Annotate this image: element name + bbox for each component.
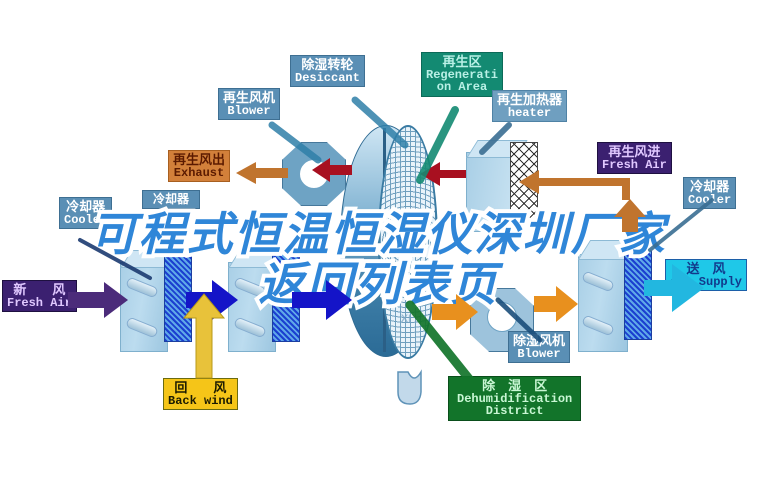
rotor-watermark-label: XI bbox=[401, 313, 411, 325]
label-back-wind[interactable]: 回 风 Back wind bbox=[163, 378, 238, 410]
label-regeneration-fresh-air[interactable]: 再生风进 Fresh Air bbox=[597, 142, 672, 174]
label-regeneration-blower-cn: 再生风机 bbox=[223, 91, 275, 105]
label-regeneration-blower[interactable]: 再生风机 Blower bbox=[218, 88, 280, 120]
label-regeneration-heater-cn: 再生加热器 bbox=[497, 93, 562, 107]
label-back-wind-cn: 回 风 bbox=[168, 381, 233, 395]
label-desiccant-rotor-en: Desiccant bbox=[295, 72, 360, 85]
label-back-wind-en: Back wind bbox=[168, 395, 233, 408]
regeneration-blower-inlet bbox=[299, 159, 329, 189]
label-regeneration-area-cn: 再生区 bbox=[426, 55, 498, 69]
label-exhaust-en: Exhaust bbox=[173, 167, 225, 180]
label-regeneration-blower-en: Blower bbox=[223, 105, 275, 118]
label-dehumidification-district-cn: 除 湿 区 bbox=[457, 379, 572, 393]
rotor-watermark-text: XI bbox=[378, 313, 434, 325]
label-cooler-right-cn: 冷却器 bbox=[688, 180, 731, 194]
label-exhaust[interactable]: 再生风出 Exhaust bbox=[168, 150, 230, 182]
label-desiccant-rotor-cn: 除湿转轮 bbox=[295, 58, 360, 72]
label-dehumidification-district-en2: District bbox=[457, 405, 572, 418]
label-dehumidification-district[interactable]: 除 湿 区 Dehumidification District bbox=[448, 376, 581, 421]
label-regeneration-fresh-air-en: Fresh Air bbox=[602, 159, 667, 172]
overlay-title-line2-text: 返回列表页 bbox=[259, 257, 499, 311]
regeneration-blower bbox=[282, 142, 344, 204]
dehumidifier-process-diagram: 除湿转轮 Desiccant 再生风机 Blower 再生区 Regenerat… bbox=[0, 0, 757, 488]
label-regeneration-heater[interactable]: 再生加热器 heater bbox=[492, 90, 567, 122]
label-regeneration-area[interactable]: 再生区 Regenerati on Area bbox=[421, 52, 503, 97]
label-regeneration-area-en2: on Area bbox=[426, 81, 498, 94]
label-regeneration-heater-en: heater bbox=[497, 107, 562, 120]
label-exhaust-cn: 再生风出 bbox=[173, 153, 225, 167]
label-dehumidification-blower[interactable]: 除湿风机 Blower bbox=[508, 331, 570, 363]
arrow-exhaust-out bbox=[236, 162, 288, 184]
label-dehumidification-blower-en: Blower bbox=[513, 348, 565, 361]
overlay-title-line2[interactable]: 返回列表页 bbox=[0, 248, 757, 314]
label-desiccant-rotor[interactable]: 除湿转轮 Desiccant bbox=[290, 55, 365, 87]
label-regeneration-fresh-air-cn: 再生风进 bbox=[602, 145, 667, 159]
label-dehumidification-blower-cn: 除湿风机 bbox=[513, 334, 565, 348]
